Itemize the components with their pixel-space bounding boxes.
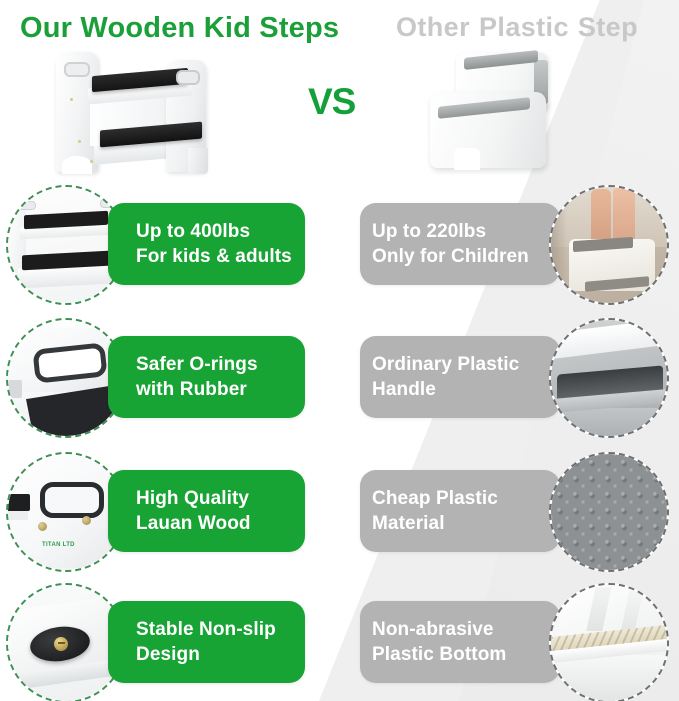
ours-claim-line-1: Stable Non-slip xyxy=(136,617,305,642)
rubber-foot-with-brass-screw-photo xyxy=(8,585,124,701)
header-other-word-2: Plastic xyxy=(479,12,569,42)
plastic-stool-base-notch xyxy=(454,148,480,170)
ours-claim-line-2: Lauan Wood xyxy=(136,511,305,536)
ours-claim-line-1: High Quality xyxy=(136,486,305,511)
theirs-claim-line-2: Plastic Bottom xyxy=(372,642,560,667)
theirs-claim-line-1: Non-abrasive xyxy=(372,617,560,642)
comparison-row-material: TITAN LTD High Quality Lauan Wood Cheap … xyxy=(0,452,679,570)
brand-logo-text: TITAN LTD xyxy=(42,542,75,548)
plastic-handle-slot-photo xyxy=(551,320,667,436)
ours-claim-pill-3: High Quality Lauan Wood xyxy=(108,470,305,552)
ours-claim-line-1: Safer O-rings xyxy=(136,352,305,377)
header-other-word-1: Other xyxy=(396,12,470,42)
stool-screw-dot xyxy=(78,140,81,143)
header-other-product: OtherPlasticStep xyxy=(396,12,638,43)
theirs-claim-pill-3: Cheap Plastic Material xyxy=(360,470,560,552)
theirs-claim-pill-1: Up to 220lbs Only for Children xyxy=(360,203,560,285)
theirs-claim-line-2: Handle xyxy=(372,377,560,402)
comparison-row-handle: Safer O-rings with Rubber Ordinary Plast… xyxy=(0,318,679,436)
ours-claim-line-1: Up to 400lbs xyxy=(136,219,305,244)
stool-right-leg xyxy=(188,148,208,174)
stool-right-handle-hole xyxy=(176,70,200,85)
ours-claim-pill-2: Safer O-rings with Rubber xyxy=(108,336,305,418)
stool-screw-dot xyxy=(90,160,93,163)
ours-claim-line-2: For kids & adults xyxy=(136,244,305,269)
comparison-infographic: Our Wooden Kid Steps OtherPlasticStep VS xyxy=(0,0,679,701)
theirs-claim-line-2: Material xyxy=(372,511,560,536)
ours-claim-line-2: Design xyxy=(136,642,305,667)
theirs-photo-circle-3 xyxy=(549,452,669,572)
vs-label: VS xyxy=(308,81,355,123)
comparison-row-bottom: Stable Non-slip Design Non-abrasive Plas… xyxy=(0,583,679,701)
theirs-claim-line-1: Cheap Plastic xyxy=(372,486,560,511)
header-our-product: Our Wooden Kid Steps xyxy=(20,12,339,45)
plastic-stool-bottom-edge-photo xyxy=(551,585,667,701)
ours-claim-pill-1: Up to 400lbs For kids & adults xyxy=(108,203,305,285)
theirs-claim-line-1: Up to 220lbs xyxy=(372,219,560,244)
theirs-photo-circle-4 xyxy=(549,583,669,701)
comparison-row-capacity: Up to 400lbs For kids & adults Up to 220… xyxy=(0,185,679,303)
hero-plastic-step-stool-image xyxy=(424,48,559,173)
child-feet-on-plastic-stool-photo xyxy=(551,187,667,303)
lauan-wood-side-panel-photo: TITAN LTD xyxy=(8,454,124,570)
wooden-step-treads-photo xyxy=(8,187,124,303)
hero-wooden-step-stool-image xyxy=(48,48,238,173)
theirs-photo-circle-2 xyxy=(549,318,669,438)
ours-claim-pill-4: Stable Non-slip Design xyxy=(108,601,305,683)
theirs-claim-line-2: Only for Children xyxy=(372,244,560,269)
stool-left-handle-hole xyxy=(64,62,90,77)
stool-screw-dot xyxy=(70,98,73,101)
theirs-claim-line-1: Ordinary Plastic xyxy=(372,352,560,377)
wooden-step-o-ring-handle-photo xyxy=(8,320,124,436)
theirs-photo-circle-1 xyxy=(549,185,669,305)
grey-bumpy-plastic-texture-photo xyxy=(551,454,667,570)
theirs-claim-pill-2: Ordinary Plastic Handle xyxy=(360,336,560,418)
ours-claim-line-2: with Rubber xyxy=(136,377,305,402)
header-other-word-3: Step xyxy=(578,12,638,42)
theirs-claim-pill-4: Non-abrasive Plastic Bottom xyxy=(360,601,560,683)
